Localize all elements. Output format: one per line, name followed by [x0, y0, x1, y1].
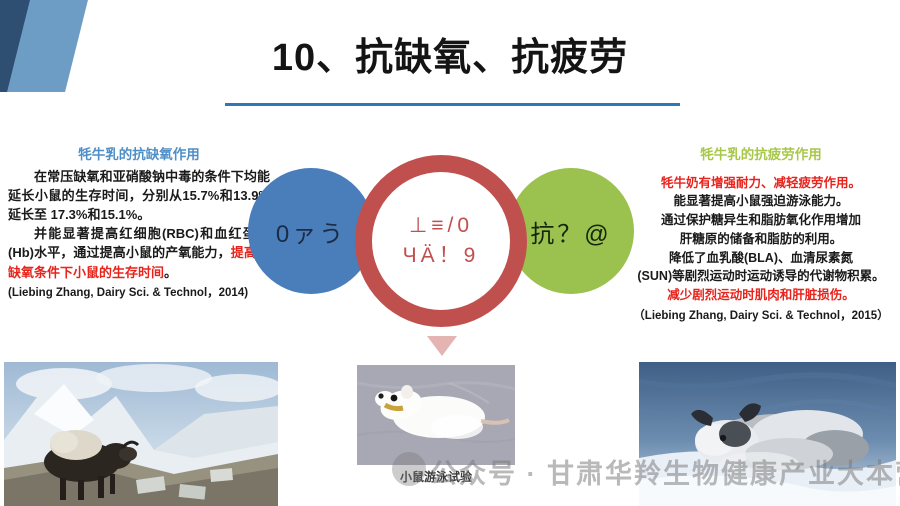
diagram-center-line-2: ЧÄ！9	[403, 241, 480, 271]
left-paragraph-2: 并能显著提高红细胞(RBC)和血红蛋白(Hb)水平，通过提高小鼠的产氧能力，提高…	[8, 224, 270, 282]
slide-title: 10、抗缺氧、抗疲劳	[0, 38, 900, 80]
right-column-heading: 牦牛乳的抗疲劳作用	[625, 146, 897, 164]
right-line-4: 肝糖原的储备和脂肪的利用。	[625, 230, 897, 249]
slide-canvas: 10、抗缺氧、抗疲劳 牦牛乳的抗缺氧作用 在常压缺氧和亚硝酸钠中毒的条件下均能延…	[0, 0, 900, 506]
right-line-7: 减少剧烈运动时肌肉和肝脏损伤。	[625, 286, 897, 305]
diagram-center-line-1: ⊥≡/0	[409, 211, 473, 241]
diagram-blue-label: 0ァう	[276, 214, 346, 249]
right-line-3: 通过保护糖异生和脂肪氧化作用增加	[625, 211, 897, 230]
right-citation: （Liebing Zhang, Dairy Sci. & Technol，201…	[625, 307, 897, 323]
right-line-5: 降低了血乳酸(BLA)、血清尿素氮	[625, 249, 897, 268]
watermark-badge-icon	[392, 452, 426, 486]
left-paragraph-1: 在常压缺氧和亚硝酸钠中毒的条件下均能延长小鼠的生存时间，分别从15.7%和13.…	[8, 167, 270, 225]
left-paragraph-2-end: 。	[164, 265, 177, 280]
photo-swimming-mouse	[357, 365, 515, 465]
right-line-2: 能显著提高小鼠强迫游泳能力。	[625, 192, 897, 211]
photo-middle-caption: 小鼠游泳试验	[357, 468, 515, 485]
right-line-1: 牦牛奶有增强耐力、减轻疲劳作用。	[625, 174, 897, 193]
diagram-green-label: 抗？@	[530, 214, 611, 249]
photo-white-yak	[639, 362, 896, 506]
left-citation: (Liebing Zhang, Dairy Sci. & Technol，201…	[8, 284, 270, 300]
diagram-center-disc: ⊥≡/0 ЧÄ！9	[372, 172, 510, 310]
left-column-heading: 牦牛乳的抗缺氧作用	[8, 146, 270, 164]
photo-yak-mountain	[4, 362, 278, 506]
right-text-column: 牦牛乳的抗疲劳作用 牦牛奶有增强耐力、减轻疲劳作用。 能显著提高小鼠强迫游泳能力…	[625, 146, 897, 323]
left-text-column: 牦牛乳的抗缺氧作用 在常压缺氧和亚硝酸钠中毒的条件下均能延长小鼠的生存时间，分别…	[8, 146, 270, 300]
right-line-6: (SUN)等剧烈运动时运动诱导的代谢物积累。	[625, 267, 897, 286]
title-underline	[225, 103, 680, 106]
diagram-circle-green: 抗？@	[508, 168, 634, 294]
down-arrow-icon	[427, 336, 457, 356]
